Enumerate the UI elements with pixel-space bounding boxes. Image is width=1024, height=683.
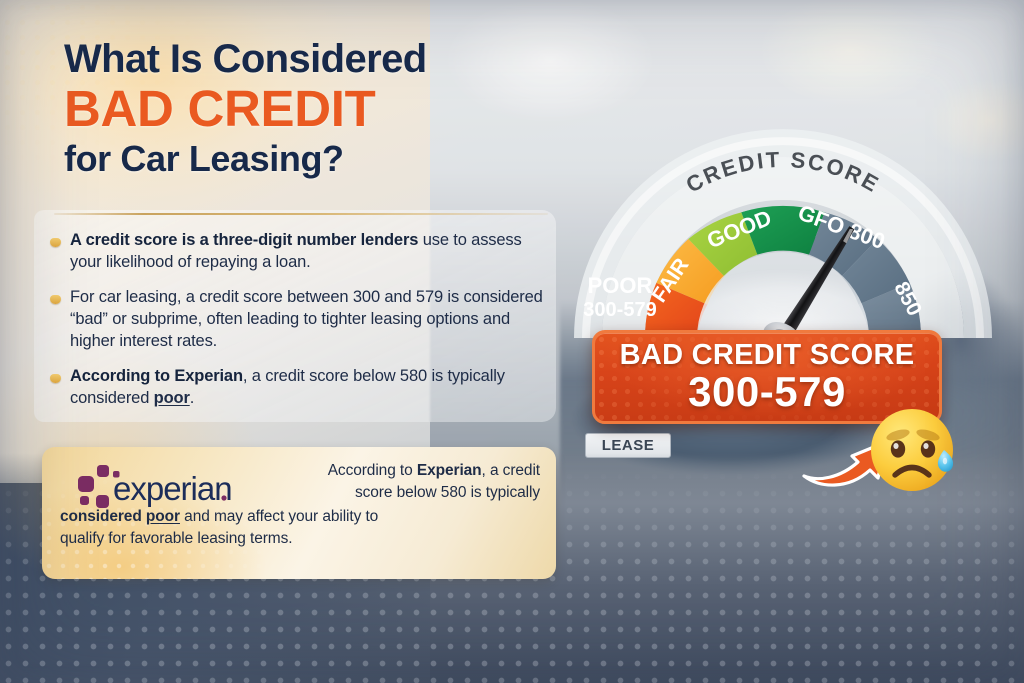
bullet-marker-icon [50, 374, 61, 383]
title-line-3: for Car Leasing? [64, 139, 534, 179]
infographic-canvas: LEASE What Is Considered BAD CREDIT for … [0, 0, 1024, 683]
bullet-marker-icon [50, 238, 61, 247]
gold-divider-rule [54, 213, 548, 215]
title-line-2-accent: BAD CREDIT [64, 81, 534, 136]
sad-crying-face-emoji [868, 404, 960, 496]
bullet-marker-icon [50, 295, 61, 304]
list-item: A credit score is a three-digit number l… [50, 230, 550, 274]
gauge-sublabel-poor: 300-579 [583, 299, 656, 321]
badge-range: 300-579 [688, 370, 846, 414]
experian-callout-text: According to Experian, a creditscore bel… [60, 460, 546, 550]
list-item: For car leasing, a credit score between … [50, 287, 550, 353]
page-title: What Is Considered BAD CREDIT for Car Le… [64, 38, 534, 179]
experian-text-line-b: considered poor and may affect your abil… [60, 506, 546, 550]
bullet-text-2: For car leasing, a credit score between … [70, 287, 550, 353]
credit-score-gauge: CREDIT SCORE POOR 300-579 FAIR GOOD GFO … [552, 88, 1014, 358]
bullet-text-3: According to Experian, a credit score be… [70, 366, 550, 410]
bullet-text-1: A credit score is a three-digit number l… [70, 230, 550, 274]
title-line-1: What Is Considered [64, 38, 534, 80]
bullet-list: A credit score is a three-digit number l… [50, 230, 550, 423]
list-item: According to Experian, a credit score be… [50, 366, 550, 410]
gauge-label-poor: POOR [588, 273, 653, 298]
experian-text-line-a: According to Experian, a creditscore bel… [238, 460, 546, 504]
